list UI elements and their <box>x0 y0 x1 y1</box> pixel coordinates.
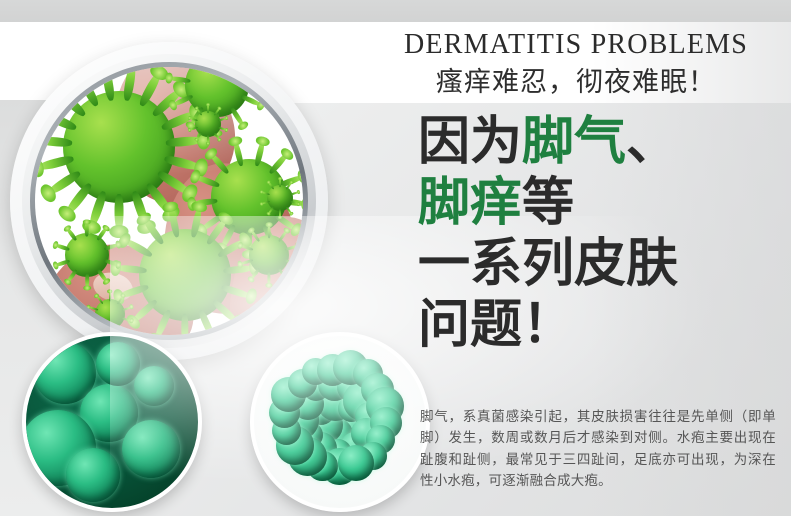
top-gray-band <box>0 0 791 22</box>
virus-particle <box>267 185 293 211</box>
virus-spike <box>115 194 124 232</box>
headline-line-3: 一系列皮肤 <box>418 234 788 295</box>
headline-text: 等 <box>522 174 574 232</box>
headline-text: 因为 <box>418 113 522 171</box>
virus-spike <box>279 178 281 187</box>
bacteria-cell <box>338 445 375 482</box>
virus-spike <box>85 222 89 237</box>
headline-text: 、 <box>626 113 678 171</box>
bacteria-cell <box>122 420 180 478</box>
virus-spike <box>207 135 209 144</box>
chinese-subtitle: 瘙痒难忍，彻夜难眠！ <box>396 64 756 100</box>
virus-spike <box>181 314 188 335</box>
bacteria-cell <box>96 342 140 386</box>
virus-spike <box>279 209 281 218</box>
headline-highlight: 脚痒 <box>418 174 522 232</box>
headline-line-1: 因为脚气、 <box>418 112 788 173</box>
virus-particle <box>65 233 109 277</box>
english-title: DERMATITIS PROBLEMS <box>396 28 756 62</box>
headline-line-2: 脚痒等 <box>418 173 788 234</box>
virus-spike <box>267 272 270 286</box>
headline: 因为脚气、 脚痒等 一系列皮肤 问题！ <box>418 112 788 356</box>
virus-particle <box>63 91 175 203</box>
virus-spike <box>85 273 89 288</box>
magnifier-lens <box>35 67 303 335</box>
headline-line-4: 问题！ <box>418 295 788 356</box>
virus-body <box>65 233 109 277</box>
bacteria-cell <box>66 448 120 502</box>
body-paragraph: 脚气，系真菌感染引起，其皮肤损害往往是先单侧（即单脚）发生，数周或数月后才感染到… <box>420 406 776 492</box>
virus-spike <box>207 104 209 113</box>
promo-poster: DERMATITIS PROBLEMS 瘙痒难忍，彻夜难眠！ 因为脚气、 脚痒等… <box>0 0 791 516</box>
virus-particle <box>249 235 289 275</box>
virus-spike <box>63 181 93 217</box>
headline-highlight: 脚气 <box>522 113 626 171</box>
virus-particle <box>195 111 221 137</box>
virus-spike <box>109 291 111 301</box>
inset-bacteria-cocci <box>22 332 202 512</box>
virus-spike <box>268 152 290 175</box>
virus-spike <box>267 225 270 239</box>
virus-particle <box>139 229 231 321</box>
bacteria-cell <box>134 366 174 406</box>
virus-body <box>249 235 289 275</box>
inset-bacteria-cluster <box>250 332 430 512</box>
magnifier-illustration <box>10 42 328 360</box>
virus-particle <box>95 299 125 329</box>
